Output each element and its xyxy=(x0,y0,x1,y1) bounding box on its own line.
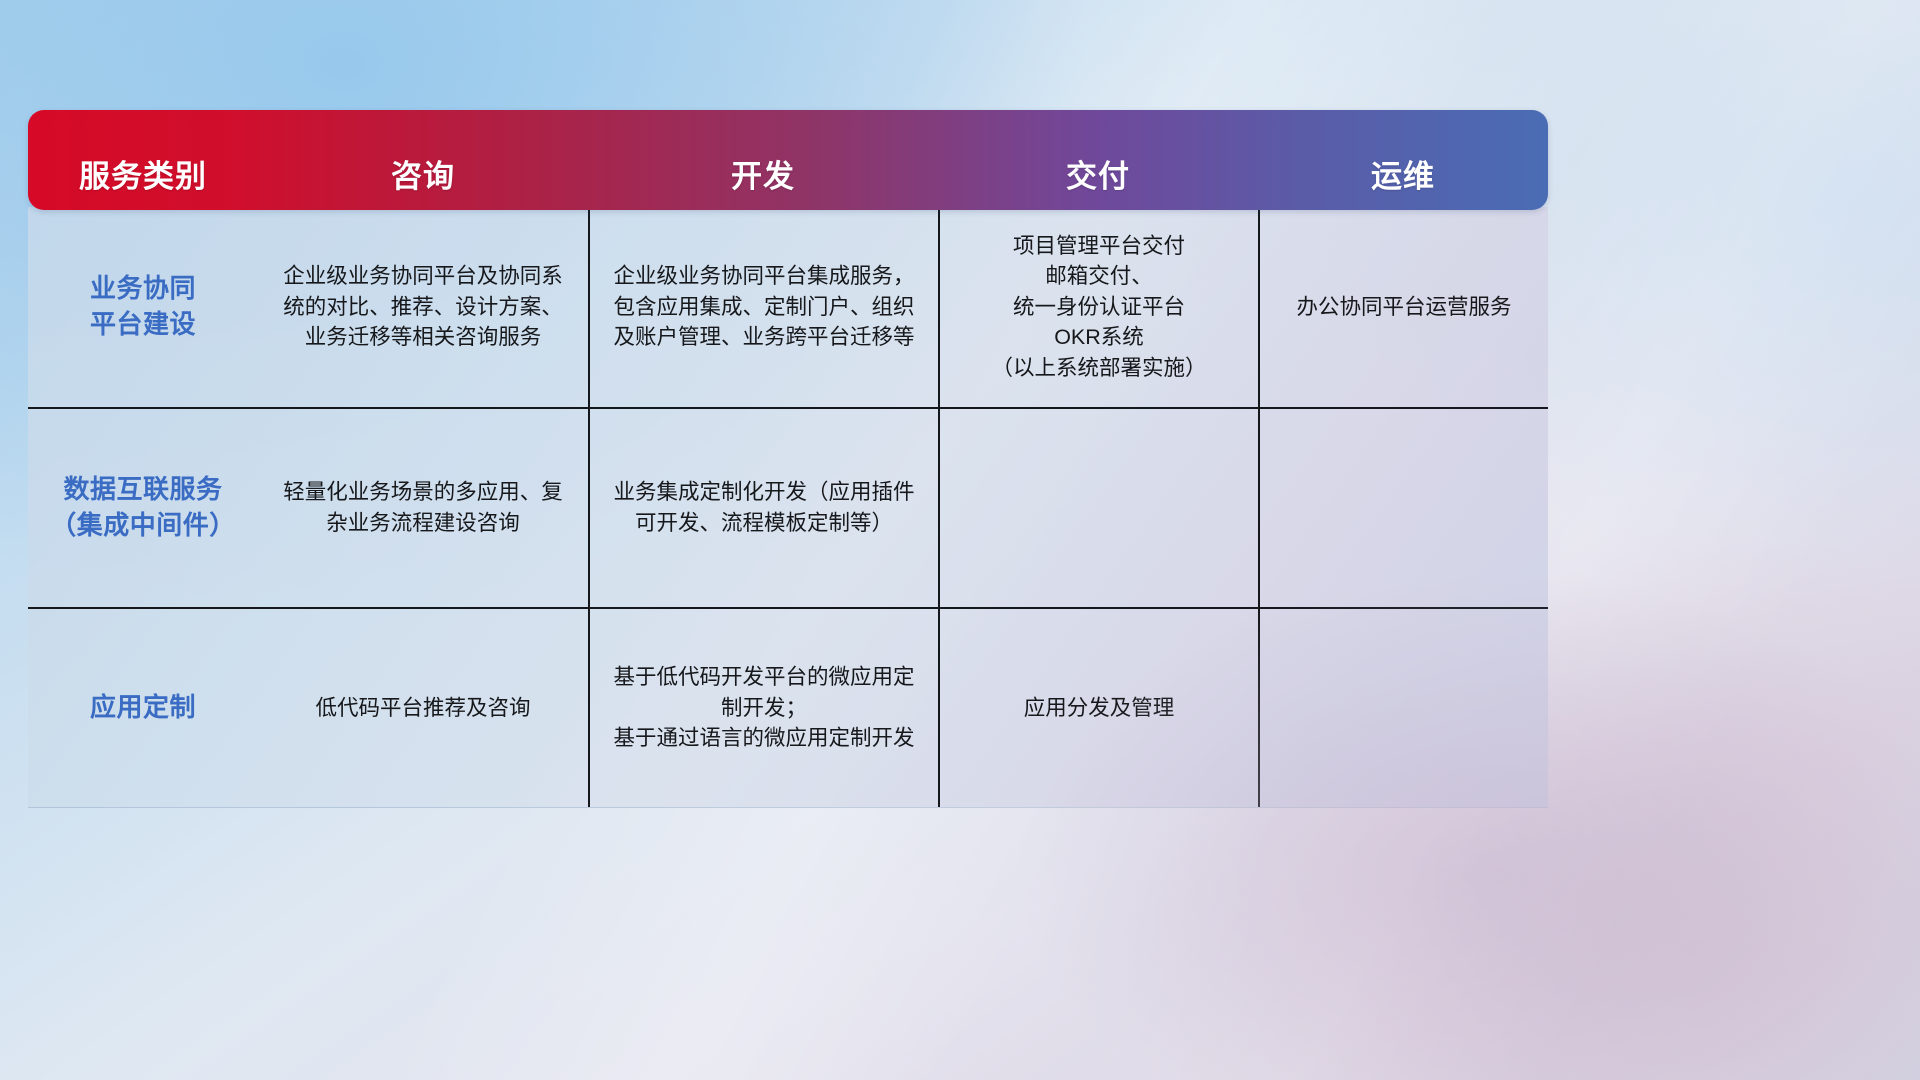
column-header-service-category: 服务类别 xyxy=(28,110,258,210)
cell-operations xyxy=(1258,609,1548,807)
row-category-label: 应用定制 xyxy=(28,609,258,807)
cell-development: 基于低代码开发平台的微应用定 制开发； 基于通过语言的微应用定制开发 xyxy=(588,609,938,807)
cell-consulting: 轻量化业务场景的多应用、复 杂业务流程建设咨询 xyxy=(258,409,588,607)
slide-canvas: 服务类别 咨询 开发 交付 运维 业务协同 平台建设 企业级业务协同平台及协同系… xyxy=(0,0,1920,1080)
cell-development: 企业级业务协同平台集成服务， 包含应用集成、定制门户、组织 及账户管理、业务跨平… xyxy=(588,207,938,407)
table-row: 业务协同 平台建设 企业级业务协同平台及协同系 统的对比、推荐、设计方案、 业务… xyxy=(28,207,1548,407)
cell-consulting: 低代码平台推荐及咨询 xyxy=(258,609,588,807)
cell-operations: 办公协同平台运营服务 xyxy=(1258,207,1548,407)
cell-delivery xyxy=(938,409,1258,607)
cell-consulting: 企业级业务协同平台及协同系 统的对比、推荐、设计方案、 业务迁移等相关咨询服务 xyxy=(258,207,588,407)
table-row: 数据互联服务 （集成中间件） 轻量化业务场景的多应用、复 杂业务流程建设咨询 业… xyxy=(28,407,1548,607)
column-header-operations: 运维 xyxy=(1258,110,1548,210)
table-body: 业务协同 平台建设 企业级业务协同平台及协同系 统的对比、推荐、设计方案、 业务… xyxy=(28,207,1548,808)
row-category-label: 业务协同 平台建设 xyxy=(28,207,258,407)
column-header-consulting: 咨询 xyxy=(258,110,588,210)
cell-delivery: 项目管理平台交付 邮箱交付、 统一身份认证平台 OKR系统 （以上系统部署实施） xyxy=(938,207,1258,407)
cell-delivery: 应用分发及管理 xyxy=(938,609,1258,807)
service-matrix-table: 服务类别 咨询 开发 交付 运维 业务协同 平台建设 企业级业务协同平台及协同系… xyxy=(28,110,1548,808)
column-header-delivery: 交付 xyxy=(938,110,1258,210)
cell-operations xyxy=(1258,409,1548,607)
table-header-row: 服务类别 咨询 开发 交付 运维 xyxy=(28,110,1548,210)
cell-development: 业务集成定制化开发（应用插件 可开发、流程模板定制等） xyxy=(588,409,938,607)
row-category-label: 数据互联服务 （集成中间件） xyxy=(28,409,258,607)
table-row: 应用定制 低代码平台推荐及咨询 基于低代码开发平台的微应用定 制开发； 基于通过… xyxy=(28,607,1548,807)
column-header-development: 开发 xyxy=(588,110,938,210)
